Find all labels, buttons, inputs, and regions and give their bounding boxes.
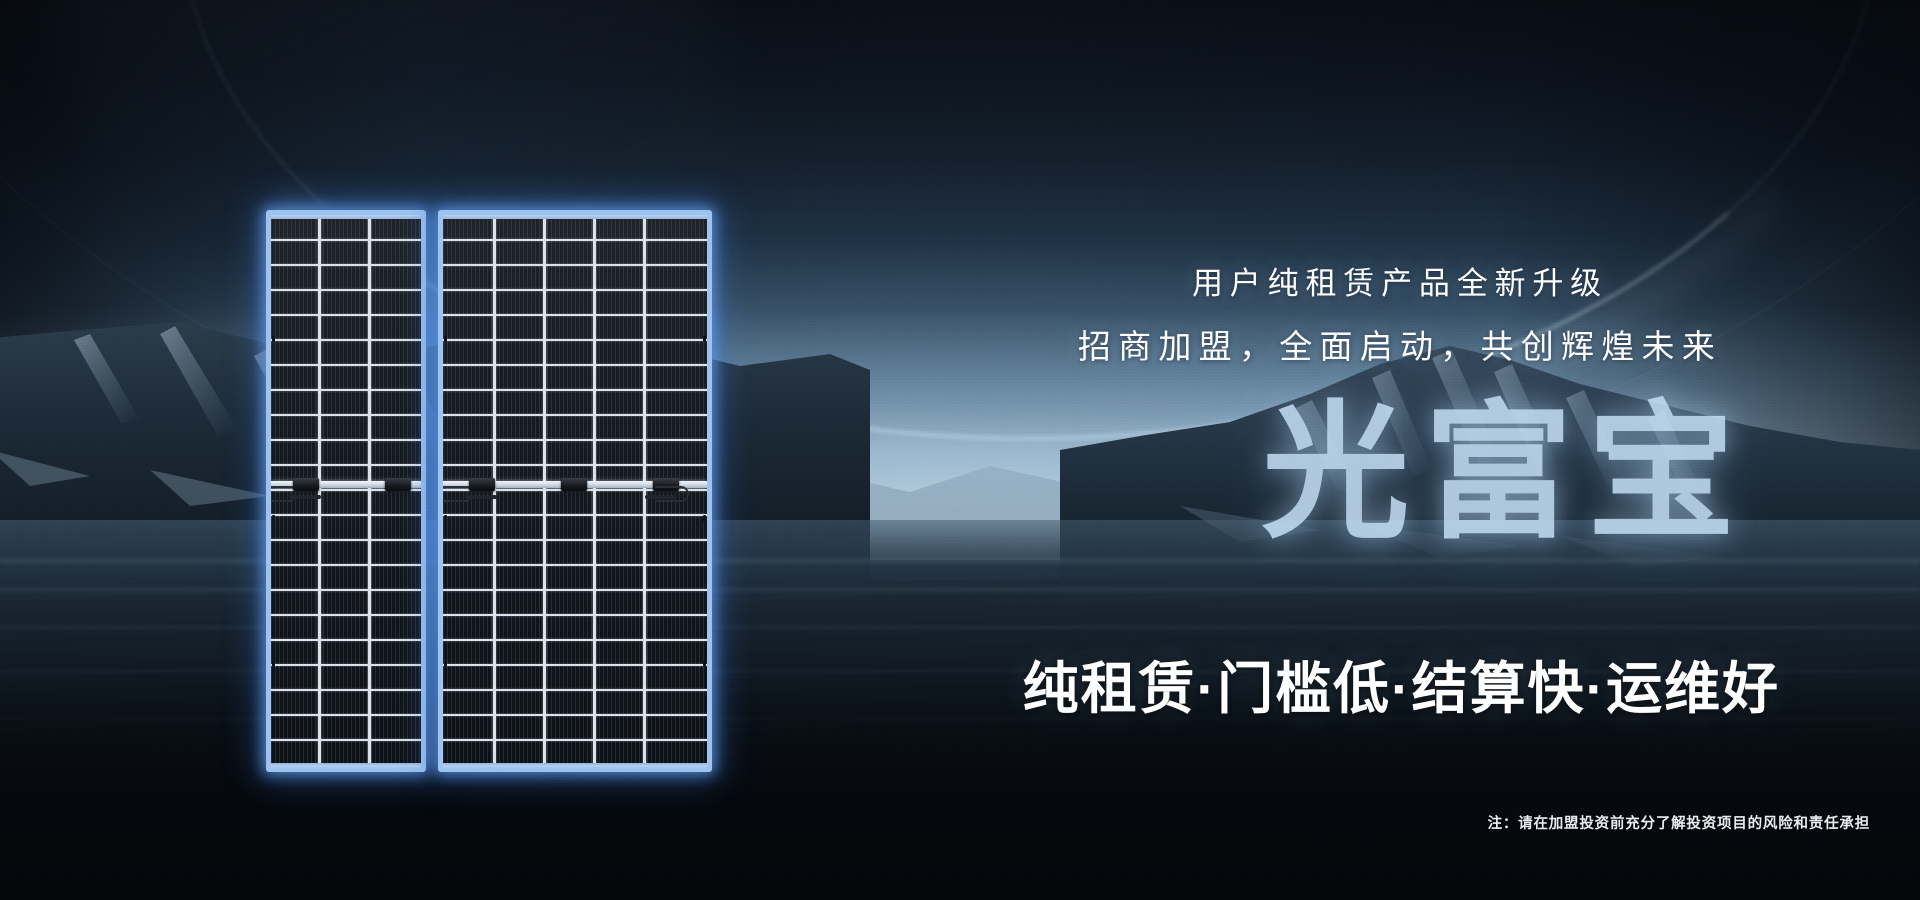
copy-block: 用户纯租赁产品全新升级 招商加盟，全面启动，共创辉煌未来 光富宝 纯租赁·门槛低… — [720, 0, 1920, 900]
frame-mount-hole — [272, 515, 275, 522]
cell-grid-line-horizontal — [271, 714, 421, 716]
junction-box — [293, 478, 319, 491]
cell-grid-line-horizontal — [271, 439, 421, 441]
frame-top-rail — [266, 210, 426, 219]
cell-grid-line-horizontal — [443, 689, 707, 691]
junction-box — [385, 478, 411, 491]
cell-grid-line-horizontal — [443, 614, 707, 616]
junction-box — [469, 478, 495, 491]
frame-mount-hole — [703, 660, 706, 667]
solar-module-right — [438, 210, 712, 772]
cell-grid-line-horizontal — [443, 464, 707, 466]
cell-grid-line-horizontal — [443, 539, 707, 541]
cell-grid-line-horizontal — [443, 239, 707, 241]
frame-bottom-rail — [266, 763, 426, 772]
cell-grid-line-horizontal — [271, 564, 421, 566]
cell-grid-line-horizontal — [271, 414, 421, 416]
cell-grid-line-horizontal — [271, 389, 421, 391]
cell-grid-line-horizontal — [443, 514, 707, 516]
frame-bottom-rail — [438, 763, 712, 772]
cell-grid-line-vertical — [318, 215, 321, 767]
frame-top-rail — [438, 210, 712, 219]
cell-grid-line-horizontal — [443, 364, 707, 366]
panel-cable — [438, 486, 469, 502]
cell-grid-line-horizontal — [271, 664, 421, 666]
cell-grid-line-horizontal — [443, 739, 707, 741]
cell-grid-line-horizontal — [271, 339, 421, 341]
frame-mount-hole — [272, 335, 275, 342]
cell-grid-line-vertical — [643, 215, 646, 767]
cell-grid-line-horizontal — [271, 614, 421, 616]
cell-grid-line-horizontal — [443, 414, 707, 416]
cell-grid-line-horizontal — [443, 714, 707, 716]
brand-name: 光富宝 — [1262, 352, 1750, 567]
promo-banner: 用户纯租赁产品全新升级 招商加盟，全面启动，共创辉煌未来 光富宝 纯租赁·门槛低… — [0, 0, 1920, 900]
frame-mount-hole — [703, 335, 706, 342]
tagline: 纯租赁·门槛低·结算快·运维好 — [1023, 644, 1780, 725]
panel-cable-stub — [289, 495, 321, 499]
solar-module-left — [266, 210, 426, 772]
cell-grid-line-horizontal — [271, 464, 421, 466]
cell-grid-line-vertical — [493, 215, 496, 767]
panel-cable — [266, 486, 293, 502]
panel-cable — [655, 486, 689, 502]
cell-grid-line-vertical — [368, 215, 371, 767]
cell-grid-line-horizontal — [443, 389, 707, 391]
cell-grid-line-horizontal — [443, 314, 707, 316]
cell-grid-line-horizontal — [271, 739, 421, 741]
disclaimer-note: 注：请在加盟投资前充分了解投资项目的风险和责任承担 — [1488, 812, 1870, 833]
cell-grid-line-horizontal — [443, 589, 707, 591]
cell-grid-line-horizontal — [271, 289, 421, 291]
frame-mount-hole — [444, 660, 447, 667]
frame-mount-hole — [272, 660, 275, 667]
cell-grid-line-horizontal — [271, 264, 421, 266]
frame-mount-hole — [444, 515, 447, 522]
cell-grid-line-horizontal — [443, 639, 707, 641]
cell-grid-line-vertical — [593, 215, 596, 767]
cell-grid-line-horizontal — [271, 364, 421, 366]
cell-grid-line-vertical — [543, 215, 546, 767]
frame-mount-hole — [444, 335, 447, 342]
frame-mount-hole — [703, 515, 706, 522]
cell-grid-line-horizontal — [443, 339, 707, 341]
cell-grid-line-horizontal — [271, 514, 421, 516]
solar-cell-field — [271, 215, 421, 767]
headline-primary: 用户纯租赁产品全新升级 — [1040, 258, 1760, 303]
cell-grid-line-horizontal — [443, 664, 707, 666]
solar-panel-product — [266, 210, 712, 772]
panel-cable-stub — [645, 495, 677, 499]
cell-grid-line-horizontal — [271, 314, 421, 316]
cell-grid-line-horizontal — [271, 589, 421, 591]
cell-grid-line-horizontal — [443, 264, 707, 266]
cell-grid-line-horizontal — [271, 539, 421, 541]
cell-grid-line-horizontal — [443, 564, 707, 566]
cell-grid-line-horizontal — [271, 639, 421, 641]
panel-cable-stub — [465, 495, 497, 499]
junction-box — [561, 478, 587, 491]
cell-grid-line-horizontal — [443, 289, 707, 291]
cell-grid-line-horizontal — [271, 689, 421, 691]
cell-grid-line-horizontal — [443, 439, 707, 441]
cell-grid-line-horizontal — [271, 239, 421, 241]
